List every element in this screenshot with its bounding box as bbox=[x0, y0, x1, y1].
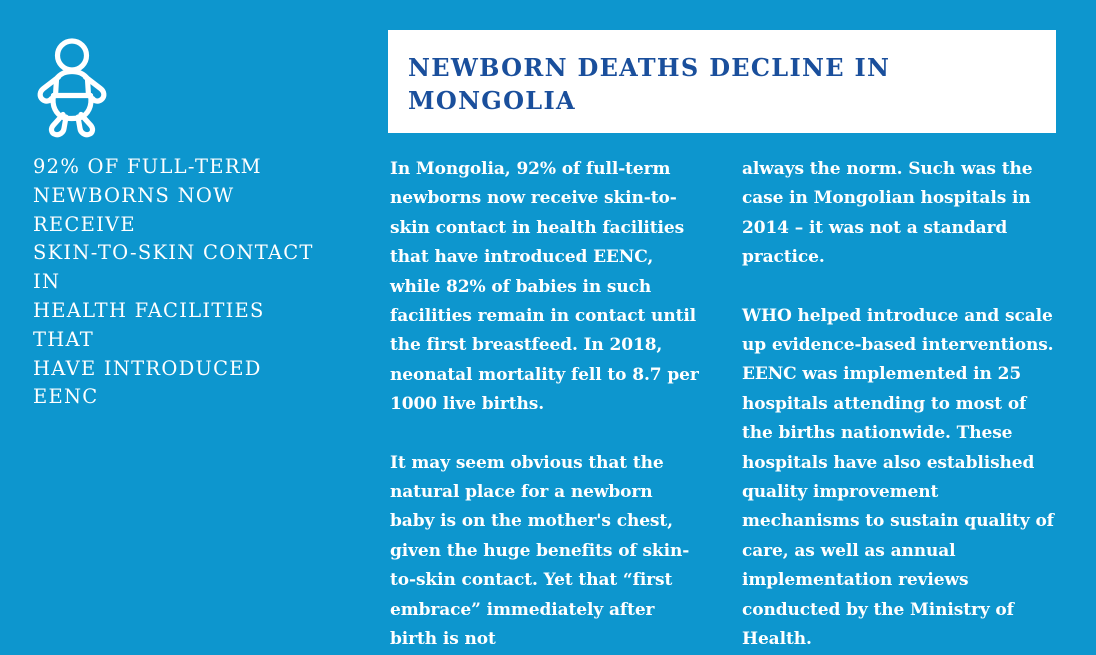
sidebar-headline: 92% OF FULL-TERM NEWBORNS NOW RECEIVE SK… bbox=[33, 153, 333, 412]
infographic-page: 92% OF FULL-TERM NEWBORNS NOW RECEIVE SK… bbox=[0, 0, 1096, 541]
sidebar: 92% OF FULL-TERM NEWBORNS NOW RECEIVE SK… bbox=[0, 0, 372, 541]
paragraph: WHO helped introduce and scale up eviden… bbox=[742, 302, 1054, 655]
left-column: In Mongolia, 92% of full-term newborns n… bbox=[390, 155, 702, 655]
body-columns: In Mongolia, 92% of full-term newborns n… bbox=[388, 155, 1060, 535]
baby-icon bbox=[33, 38, 111, 138]
title-card: NEWBORN DEATHS DECLINE IN MONGOLIA bbox=[388, 30, 1056, 133]
paragraph: It may seem obvious that the natural pla… bbox=[390, 449, 702, 655]
paragraph: always the norm. Such was the case in Mo… bbox=[742, 155, 1054, 273]
paragraph: In Mongolia, 92% of full-term newborns n… bbox=[390, 155, 702, 420]
right-column: always the norm. Such was the case in Mo… bbox=[742, 155, 1054, 655]
page-title: NEWBORN DEATHS DECLINE IN MONGOLIA bbox=[408, 51, 908, 117]
